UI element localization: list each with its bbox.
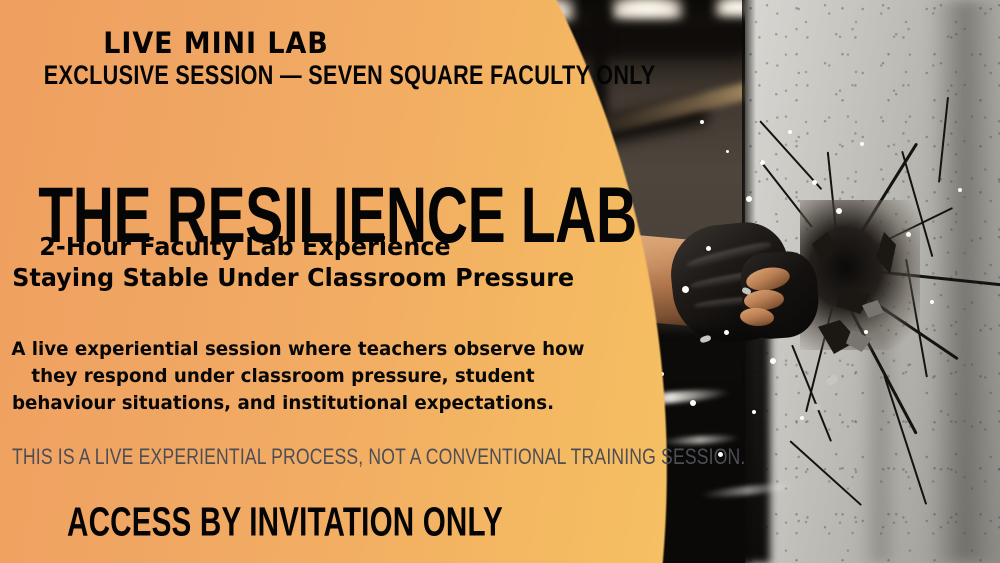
- description-line-1: A live experiential session where teache…: [11, 336, 554, 363]
- subtitle-theme: Staying Stable Under Classroom Pressure: [12, 263, 478, 292]
- subtitle-duration: 2-Hour Faculty Lab Experience: [12, 232, 478, 261]
- description-line-3: behaviour situations, and institutional …: [11, 390, 554, 417]
- description-paragraph: A live experiential session where teache…: [11, 336, 554, 417]
- call-to-action: ACCESS BY INVITATION ONLY: [63, 500, 508, 546]
- process-note: THIS IS A LIVE EXPERIENTIAL PROCESS, NOT…: [12, 444, 745, 470]
- kicker-exclusive-session: EXCLUSIVE SESSION — SEVEN SQUARE FACULTY…: [44, 60, 394, 91]
- poster-canvas: LIVE MINI LAB EXCLUSIVE SESSION — SEVEN …: [0, 0, 1000, 563]
- description-line-2: they respond under classroom pressure, s…: [11, 363, 554, 390]
- poster-content: LIVE MINI LAB EXCLUSIVE SESSION — SEVEN …: [0, 0, 1000, 563]
- kicker-live-mini-lab: LIVE MINI LAB: [15, 26, 417, 60]
